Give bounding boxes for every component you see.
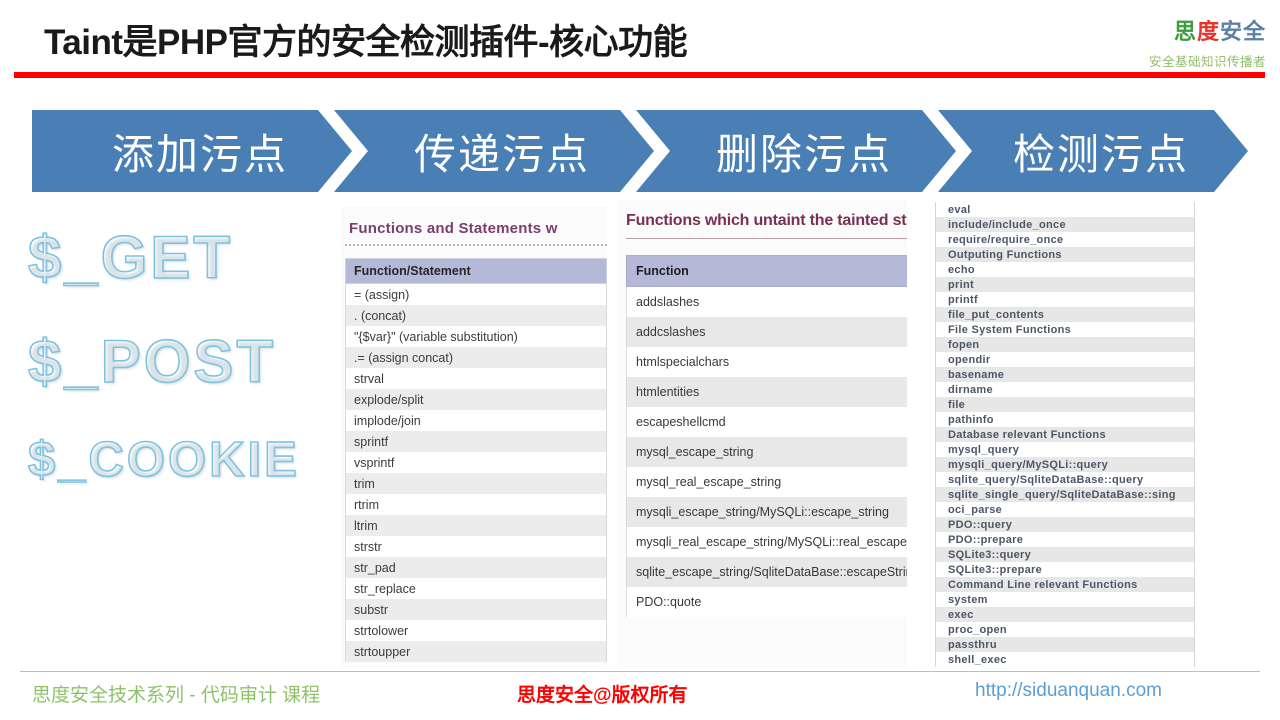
table-sinks-cell: sqlite_single_query/SqliteDataBase::sing — [936, 487, 1195, 502]
table-untaint-column-header: Function — [627, 256, 908, 287]
table-row: include/include_once — [936, 217, 1195, 232]
table-untaint-title: Functions which untaint the tainted stri… — [617, 200, 907, 238]
table-sinks-cell: file_put_contents — [936, 307, 1195, 322]
table-sinks-cell: dirname — [936, 382, 1195, 397]
table-assign-cell: vsprintf — [346, 452, 607, 473]
table-assign-cell: = (assign) — [346, 284, 607, 306]
table-sinks-cell: Database relevant Functions — [936, 427, 1195, 442]
table-row: explode/split — [346, 389, 607, 410]
table-assign-title-divider — [345, 244, 607, 246]
table-row: rtrim — [346, 494, 607, 515]
table-row: htmlentities — [627, 377, 908, 407]
table-row: "{$var}" (variable substitution) — [346, 326, 607, 347]
table-assign: Function/Statement = (assign). (concat)"… — [345, 258, 607, 662]
table-sinks-cell: printf — [936, 292, 1195, 307]
footer-website-link[interactable]: http://siduanquan.com — [975, 680, 1162, 702]
superglobal-cookie: $_COOKIE — [28, 436, 328, 485]
table-row: sqlite_query/SqliteDataBase::query — [936, 472, 1195, 487]
superglobals-list: $_GET $_POST $_COOKIE — [28, 228, 328, 529]
table-row: basename — [936, 367, 1195, 382]
table-assign-cell: str_pad — [346, 557, 607, 578]
table-assign-cell: . (concat) — [346, 305, 607, 326]
table-row: print — [936, 277, 1195, 292]
table-sinks: evalinclude/include_oncerequire/require_… — [935, 202, 1195, 667]
table-assign-header-row: Function/Statement — [346, 259, 607, 284]
table-row: passthru — [936, 637, 1195, 652]
table-row: mysql_real_escape_string — [627, 467, 908, 497]
table-assign-cell: "{$var}" (variable substitution) — [346, 326, 607, 347]
table-row: PDO::quote — [627, 587, 908, 617]
table-row: exec — [936, 607, 1195, 622]
table-row: Outputing Functions — [936, 247, 1195, 262]
table-row: require/require_once — [936, 232, 1195, 247]
table-row: fopen — [936, 337, 1195, 352]
table-row: htmlspecialchars — [627, 347, 908, 377]
table-assign-cell: implode/join — [346, 410, 607, 431]
process-step-1-label: 添加污点 — [96, 121, 288, 182]
table-row: system — [936, 592, 1195, 607]
table-assign-cell: trim — [346, 473, 607, 494]
table-sinks-cell: echo — [936, 262, 1195, 277]
process-step-3-label: 删除污点 — [700, 121, 892, 182]
table-row: PDO::query — [936, 517, 1195, 532]
table-assign-cell: strtoupper — [346, 641, 607, 662]
table-untaint-cell: PDO::quote — [627, 587, 908, 617]
table-row: oci_parse — [936, 502, 1195, 517]
table-untaint-cell: htmlspecialchars — [627, 347, 908, 377]
table-row: proc_open — [936, 622, 1195, 637]
table-row: ltrim — [346, 515, 607, 536]
table-row: SQLite3::query — [936, 547, 1195, 562]
table-assign-cell: strstr — [346, 536, 607, 557]
table-untaint-cell: mysql_real_escape_string — [627, 467, 908, 497]
table-sinks-cell: oci_parse — [936, 502, 1195, 517]
table-untaint-cell: mysql_escape_string — [627, 437, 908, 467]
table-untaint-cell: mysqli_real_escape_string/MySQLi::real_e… — [627, 527, 908, 557]
footer: 思度安全技术系列 - 代码审计 课程 思度安全@版权所有 http://sidu… — [0, 676, 1280, 720]
table-sinks-cell: basename — [936, 367, 1195, 382]
table-sinks-cell: Command Line relevant Functions — [936, 577, 1195, 592]
table-row: Database relevant Functions — [936, 427, 1195, 442]
table-assign-column-header: Function/Statement — [346, 259, 607, 284]
table-assign-cell: explode/split — [346, 389, 607, 410]
table-row: PDO::prepare — [936, 532, 1195, 547]
table-row: strstr — [346, 536, 607, 557]
process-step-1[interactable]: 添加污点 — [32, 110, 352, 192]
brand-tagline: 安全基础知识传播者 — [1149, 51, 1266, 70]
table-untaint-cell: mysqli_escape_string/MySQLi::escape_stri… — [627, 497, 908, 527]
table-row: substr — [346, 599, 607, 620]
process-step-3[interactable]: 删除污点 — [636, 110, 956, 192]
table-untaint-cell: addcslashes — [627, 317, 908, 347]
table-sinks-cell: print — [936, 277, 1195, 292]
table-row: Command Line relevant Functions — [936, 577, 1195, 592]
table-sinks-cell: exec — [936, 607, 1195, 622]
table-assign-cell: ltrim — [346, 515, 607, 536]
table-sinks-cell: SQLite3::query — [936, 547, 1195, 562]
table-row: shell_exec — [936, 652, 1195, 667]
table-row: File System Functions — [936, 322, 1195, 337]
table-sinks-cell: fopen — [936, 337, 1195, 352]
brand-logo-char-3: 安全 — [1220, 19, 1266, 44]
table-assign-cell: rtrim — [346, 494, 607, 515]
table-sinks-cell: mysql_query — [936, 442, 1195, 457]
table-sinks-cell: include/include_once — [936, 217, 1195, 232]
page-title: Taint是PHP官方的安全检测插件-核心功能 — [44, 14, 687, 65]
table-row: eval — [936, 202, 1195, 217]
table-sinks-cell: PDO::query — [936, 517, 1195, 532]
table-sinks-cell: system — [936, 592, 1195, 607]
table-sinks-cell: sqlite_query/SqliteDataBase::query — [936, 472, 1195, 487]
table-sinks-cell: shell_exec — [936, 652, 1195, 667]
table-row: mysql_escape_string — [627, 437, 908, 467]
table-untaint-title-divider — [626, 238, 907, 239]
table-sinks-cell: mysqli_query/MySQLi::query — [936, 457, 1195, 472]
table-assign-cell: str_replace — [346, 578, 607, 599]
process-step-2[interactable]: 传递污点 — [334, 110, 654, 192]
table-row: implode/join — [346, 410, 607, 431]
table-untaint-cell: htmlentities — [627, 377, 908, 407]
footer-divider — [20, 671, 1260, 672]
table-row: sprintf — [346, 431, 607, 452]
table-row: opendir — [936, 352, 1195, 367]
table-sinks-cell: require/require_once — [936, 232, 1195, 247]
table-assign-cell: sprintf — [346, 431, 607, 452]
superglobal-post: $_POST — [28, 332, 328, 392]
table-assign-cell: strtolower — [346, 620, 607, 641]
table-row: . (concat) — [346, 305, 607, 326]
table-untaint-cell: escapeshellcmd — [627, 407, 908, 437]
table-row: .= (assign concat) — [346, 347, 607, 368]
table-row: addslashes — [627, 287, 908, 318]
table-row: escapeshellcmd — [627, 407, 908, 437]
table-row: str_replace — [346, 578, 607, 599]
title-underline-rule — [14, 72, 1265, 78]
table-row: mysqli_escape_string/MySQLi::escape_stri… — [627, 497, 908, 527]
table-sinks-cell: pathinfo — [936, 412, 1195, 427]
table-row: addcslashes — [627, 317, 908, 347]
table-row: strtoupper — [346, 641, 607, 662]
table-card-untaint-functions: Functions which untaint the tainted stri… — [617, 200, 907, 668]
table-untaint-cell: sqlite_escape_string/SqliteDataBase::esc… — [627, 557, 908, 587]
table-untaint-cell: addslashes — [627, 287, 908, 318]
table-row: trim — [346, 473, 607, 494]
superglobal-get: $_GET — [28, 228, 328, 288]
table-sinks-cell: file — [936, 397, 1195, 412]
table-row: sqlite_escape_string/SqliteDataBase::esc… — [627, 557, 908, 587]
table-sinks-cell: SQLite3::prepare — [936, 562, 1195, 577]
process-step-2-label: 传递污点 — [398, 121, 590, 182]
table-row: dirname — [936, 382, 1195, 397]
table-row: sqlite_single_query/SqliteDataBase::sing — [936, 487, 1195, 502]
table-row: strtolower — [346, 620, 607, 641]
table-sinks-cell: PDO::prepare — [936, 532, 1195, 547]
table-row: file — [936, 397, 1195, 412]
table-sinks-cell: File System Functions — [936, 322, 1195, 337]
table-row: str_pad — [346, 557, 607, 578]
table-row: vsprintf — [346, 452, 607, 473]
process-step-4-label: 检测污点 — [997, 121, 1189, 182]
table-assign-cell: .= (assign concat) — [346, 347, 607, 368]
brand-logo-char-2: 度 — [1197, 19, 1220, 44]
table-card-propagating-functions: Functions and Statements w Function/Stat… — [341, 206, 607, 668]
table-row: printf — [936, 292, 1195, 307]
brand-logo-char-1: 思 — [1174, 19, 1197, 44]
table-assign-title: Functions and Statements w — [341, 206, 607, 244]
table-row: mysqli_query/MySQLi::query — [936, 457, 1195, 472]
table-assign-cell: substr — [346, 599, 607, 620]
table-untaint-header-row: Function — [627, 256, 908, 287]
table-row: mysql_query — [936, 442, 1195, 457]
brand-logo: 思度安全 安全基础知识传播者 — [1149, 14, 1266, 70]
footer-copyright: 思度安全@版权所有 — [517, 680, 688, 707]
table-row: strval — [346, 368, 607, 389]
table-row: echo — [936, 262, 1195, 277]
table-card-sink-functions: evalinclude/include_oncerequire/require_… — [935, 202, 1197, 668]
process-chevron-band: 添加污点 传递污点 删除污点 检测污点 — [32, 110, 1248, 192]
table-sinks-cell: proc_open — [936, 622, 1195, 637]
process-step-4[interactable]: 检测污点 — [938, 110, 1248, 192]
table-row: mysqli_real_escape_string/MySQLi::real_e… — [627, 527, 908, 557]
table-row: = (assign) — [346, 284, 607, 306]
table-untaint: Function addslashesaddcslasheshtmlspecia… — [626, 255, 907, 617]
table-row: pathinfo — [936, 412, 1195, 427]
table-row: file_put_contents — [936, 307, 1195, 322]
table-sinks-cell: opendir — [936, 352, 1195, 367]
footer-course-label: 思度安全技术系列 - 代码审计 课程 — [32, 680, 320, 707]
table-row: SQLite3::prepare — [936, 562, 1195, 577]
table-sinks-cell: passthru — [936, 637, 1195, 652]
table-assign-cell: strval — [346, 368, 607, 389]
table-sinks-cell: Outputing Functions — [936, 247, 1195, 262]
table-sinks-cell: eval — [936, 202, 1195, 217]
